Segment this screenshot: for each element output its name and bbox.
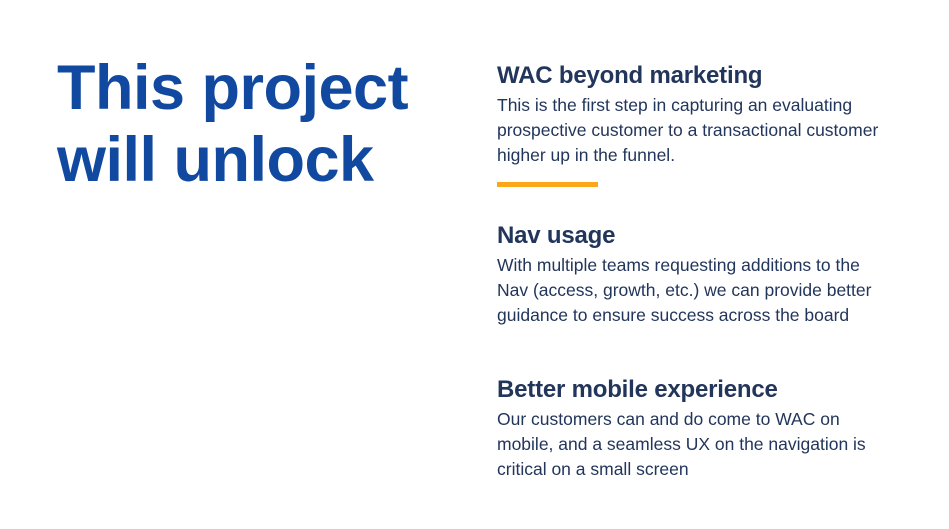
key-point-body: This is the first step in capturing an e…: [497, 93, 889, 168]
key-point-heading: Better mobile experience: [497, 376, 897, 404]
accent-divider: [497, 182, 598, 187]
key-point-body: With multiple teams requesting additions…: [497, 253, 895, 328]
key-point-heading: WAC beyond marketing: [497, 62, 897, 90]
presentation-slide: This project will unlock WAC beyond mark…: [0, 0, 949, 529]
key-point-heading: Nav usage: [497, 222, 897, 250]
slide-title: This project will unlock: [57, 52, 457, 196]
key-points-list: WAC beyond marketing This is the first s…: [497, 62, 897, 482]
key-point-item: Better mobile experience Our customers c…: [497, 376, 897, 482]
key-point-body: Our customers can and do come to WAC on …: [497, 407, 889, 482]
key-point-item: Nav usage With multiple teams requesting…: [497, 222, 897, 328]
slide-title-block: This project will unlock: [57, 52, 457, 196]
key-point-item: WAC beyond marketing This is the first s…: [497, 62, 897, 187]
